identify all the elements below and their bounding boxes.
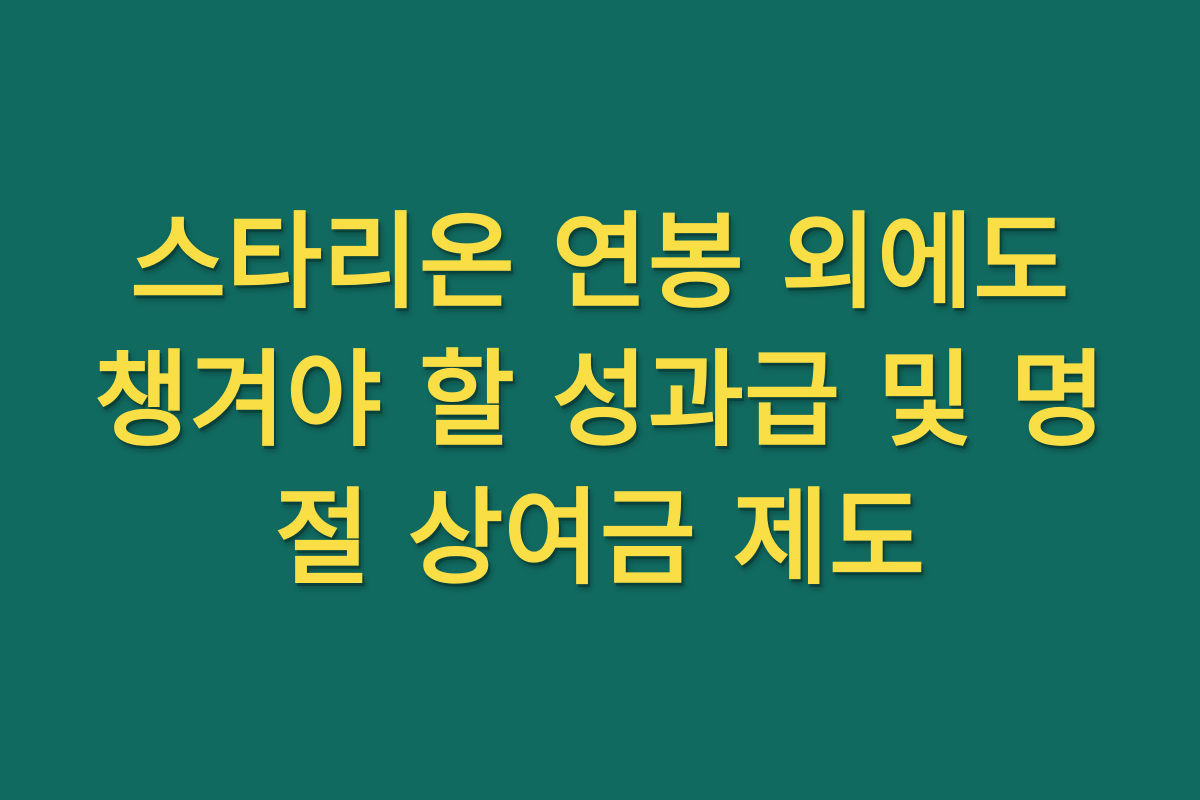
page-title: 스타리온 연봉 외에도 챙겨야 할 성과급 및 명 절 상여금 제도	[70, 193, 1130, 608]
thumbnail-card: 스타리온 연봉 외에도 챙겨야 할 성과급 및 명 절 상여금 제도	[0, 0, 1200, 800]
title-line-2: 챙겨야 할 성과급 및 명	[70, 331, 1130, 469]
title-line-3: 절 상여금 제도	[70, 469, 1130, 607]
title-line-1: 스타리온 연봉 외에도	[70, 193, 1130, 331]
